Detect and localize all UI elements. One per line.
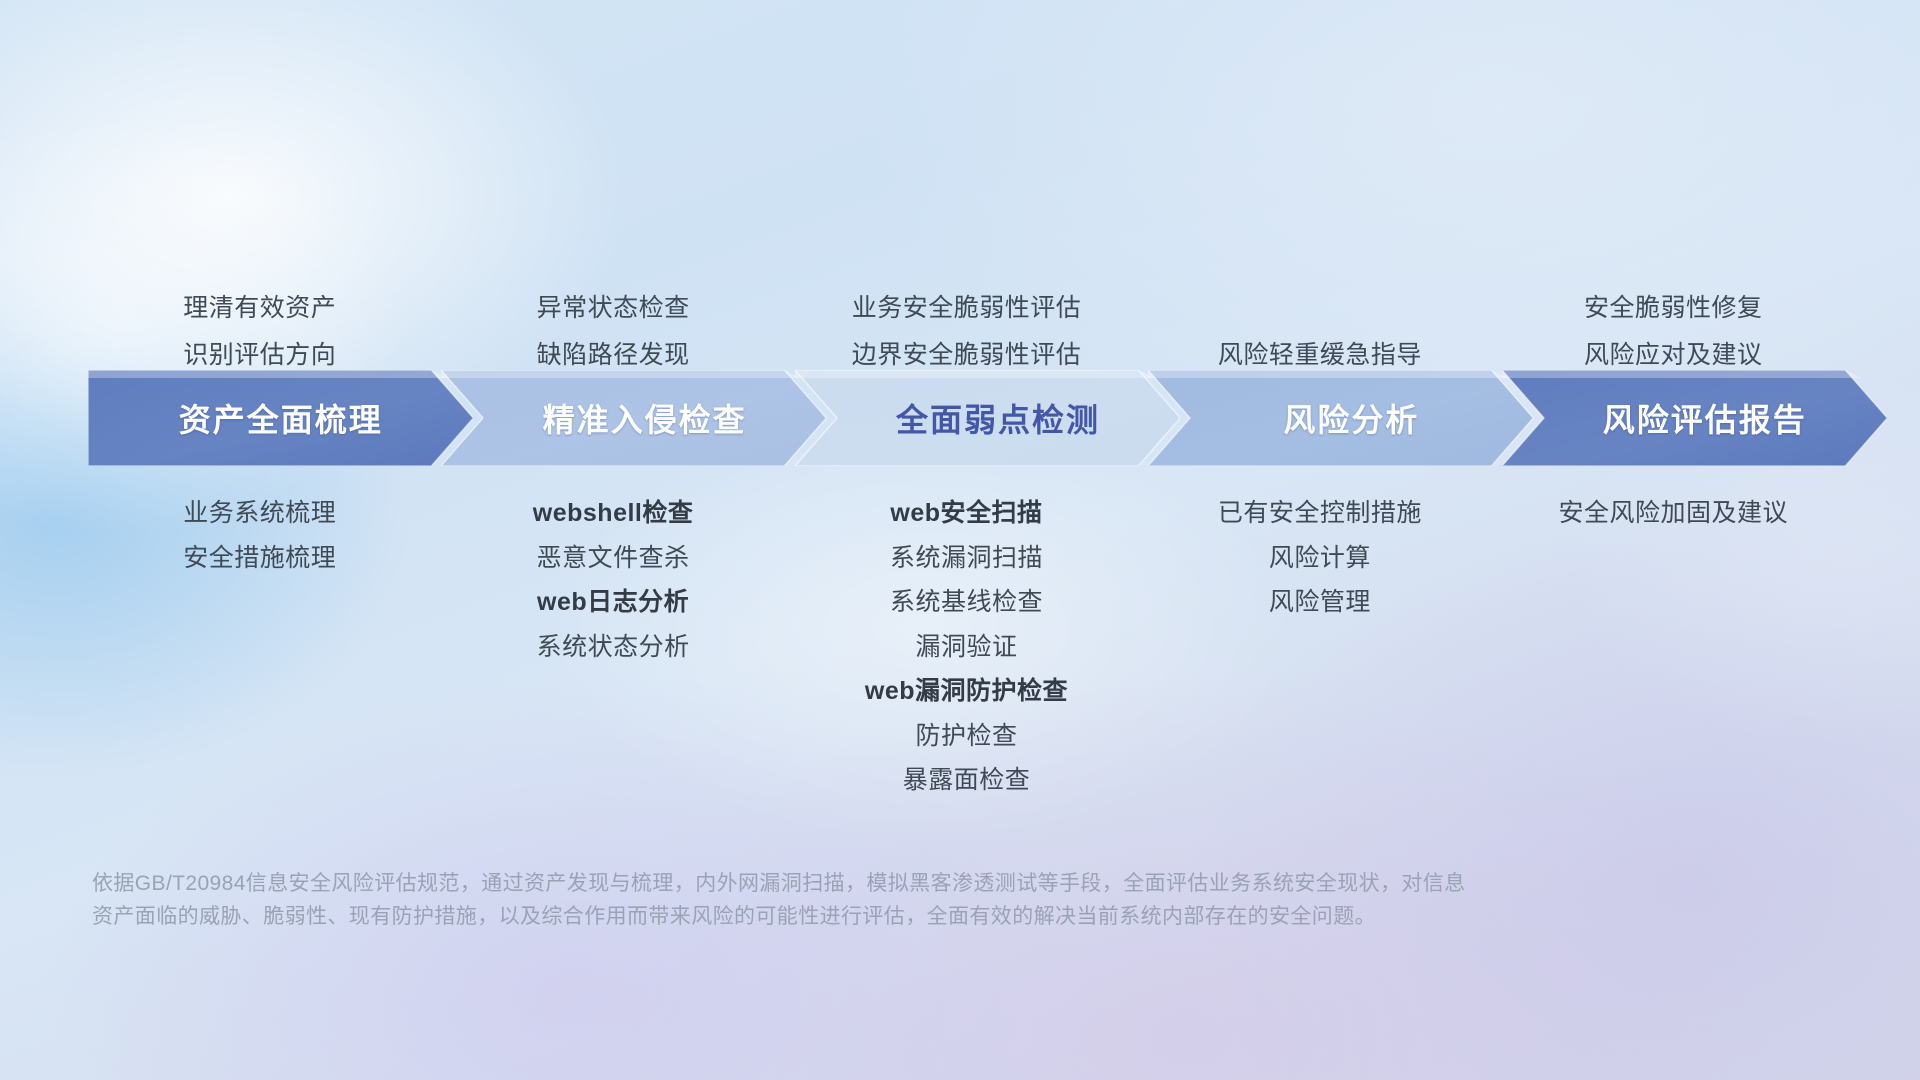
stage-top-items: 异常状态检查缺陷路径发现 — [441, 293, 784, 370]
stage-bottom-items: web安全扫描系统漏洞扫描系统基线检查漏洞验证web漏洞防护检查防护检查暴露面检… — [795, 498, 1138, 796]
stage-top-item: 业务安全脆弱性评估 — [852, 293, 1082, 324]
stage-top-item: 安全脆弱性修复 — [1584, 293, 1763, 324]
stage-bottom-item: 漏洞验证 — [915, 632, 1017, 663]
footer-line-1: 依据GB/T20984信息安全风险评估规范，通过资产发现与梳理，内外网漏洞扫描，… — [92, 872, 1466, 895]
process-stage-weakness-detection[interactable]: 全面弱点检测 — [795, 370, 1180, 466]
process-stage-title: 全面弱点检测 — [896, 395, 1100, 441]
stage-top-item: 缺陷路径发现 — [537, 340, 690, 371]
process-stage-risk-analysis[interactable]: 风险分析 — [1148, 370, 1533, 466]
stage-top-item: 识别评估方向 — [183, 340, 336, 371]
stage-bottom-item: 业务系统梳理 — [183, 498, 336, 529]
stage-top-item: 理清有效资产 — [183, 293, 336, 324]
process-stage-asset-inventory[interactable]: 资产全面梳理 — [88, 370, 473, 466]
process-stage-title: 风险评估报告 — [1603, 395, 1807, 441]
process-diagram-canvas: 理清有效资产识别评估方向业务系统梳理安全措施梳理异常状态检查缺陷路径发现webs… — [0, 0, 1920, 1080]
stage-bottom-item: 已有安全控制措施 — [1218, 498, 1422, 529]
stage-top-item: 风险应对及建议 — [1584, 340, 1763, 371]
stage-bottom-item: web安全扫描 — [890, 498, 1042, 529]
stage-top-items: 风险轻重缓急指导 — [1148, 340, 1491, 371]
stage-top-item: 异常状态检查 — [537, 293, 690, 324]
process-stage-title: 资产全面梳理 — [179, 395, 383, 441]
footer-line-2: 资产面临的威胁、脆弱性、现有防护措施，以及综合作用而带来风险的可能性进行评估，全… — [92, 901, 1592, 934]
stage-bottom-item: 防护检查 — [915, 721, 1017, 752]
stage-bottom-items: webshell检查恶意文件查杀web日志分析系统状态分析 — [441, 498, 784, 662]
stage-top-items: 安全脆弱性修复风险应对及建议 — [1502, 293, 1845, 370]
stage-bottom-item: 系统状态分析 — [537, 632, 690, 663]
stage-bottom-item: 恶意文件查杀 — [537, 543, 690, 574]
stage-top-item: 风险轻重缓急指导 — [1218, 340, 1422, 371]
stage-bottom-item: 安全措施梳理 — [183, 543, 336, 574]
stage-bottom-items: 业务系统梳理安全措施梳理 — [88, 498, 431, 573]
stage-bottom-item: web漏洞防护检查 — [865, 676, 1068, 707]
process-stage-title: 风险分析 — [1283, 395, 1419, 441]
stage-top-item: 边界安全脆弱性评估 — [852, 340, 1082, 371]
process-stage-title: 精准入侵检查 — [543, 395, 747, 441]
stage-bottom-item: 风险计算 — [1269, 543, 1371, 574]
process-stage-intrusion-check[interactable]: 精准入侵检查 — [441, 370, 826, 466]
footer-description: 依据GB/T20984信息安全风险评估规范，通过资产发现与梳理，内外网漏洞扫描，… — [92, 868, 1592, 933]
stage-bottom-item: 安全风险加固及建议 — [1559, 498, 1789, 529]
stage-top-items: 理清有效资产识别评估方向 — [88, 293, 431, 370]
process-stage-assessment-report[interactable]: 风险评估报告 — [1502, 370, 1887, 466]
stage-bottom-items: 已有安全控制措施风险计算风险管理 — [1148, 498, 1491, 618]
stage-bottom-item: webshell检查 — [533, 498, 694, 529]
stage-bottom-item: 暴露面检查 — [903, 765, 1031, 796]
stage-bottom-items: 安全风险加固及建议 — [1502, 498, 1845, 529]
stage-bottom-item: web日志分析 — [537, 587, 689, 618]
stage-bottom-item: 风险管理 — [1269, 587, 1371, 618]
process-arrow-band: 资产全面梳理精准入侵检查全面弱点检测风险分析风险评估报告 — [88, 370, 1845, 466]
stage-bottom-item: 系统漏洞扫描 — [890, 543, 1043, 574]
stage-top-items: 业务安全脆弱性评估边界安全脆弱性评估 — [795, 293, 1138, 370]
stage-bottom-item: 系统基线检查 — [890, 587, 1043, 618]
